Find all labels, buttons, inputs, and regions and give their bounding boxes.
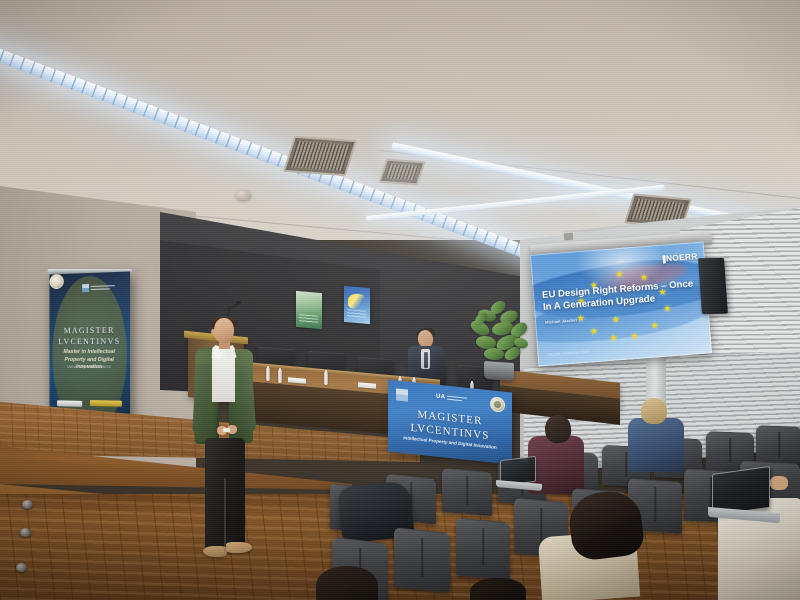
conference-room-photo: ★ ★ ★ ★ ★ ★ ★ ★ ★ ★ ★ ★ |||NOERR EU Desi…: [0, 0, 800, 600]
panelist-tie: [424, 352, 428, 368]
step-light-icon: [16, 563, 27, 572]
auditorium-seat: [442, 468, 492, 516]
presenter-shoe-right: [226, 542, 252, 553]
air-conditioning-vent: [378, 159, 425, 186]
presentation-clicker: [223, 428, 230, 432]
water-bottle: [324, 372, 328, 385]
presenter-shoe-left: [203, 546, 227, 557]
audience-member-hand: [770, 476, 788, 490]
table-banner-magister-lvcentinvs: UA MAGISTER LVCENTINVS Intellectual Prop…: [388, 379, 512, 464]
audience-member-blue-jacket: [628, 418, 684, 472]
university-seal-icon: [49, 274, 63, 289]
ua-subtext-lines: [447, 396, 467, 402]
presenter-head: [214, 318, 234, 343]
auditorium-seat: [456, 518, 510, 581]
ua-wordmark: UA: [436, 394, 445, 401]
banner-university: University of ALICANTE: [54, 365, 125, 369]
euipo-wordmark: [91, 285, 115, 290]
step-light-icon: [22, 500, 33, 509]
smoke-detector-icon: [236, 190, 251, 200]
audience-member-head: [316, 566, 378, 600]
water-bottle: [266, 368, 270, 381]
projection-screen: ★ ★ ★ ★ ★ ★ ★ ★ ★ ★ ★ ★ |||NOERR EU Desi…: [530, 241, 712, 366]
euipo-mark-icon: [82, 284, 89, 292]
banner-title: MAGISTER LVCENTINVS: [49, 324, 130, 347]
screen-mount: [564, 233, 574, 241]
audience-member-head: [470, 578, 526, 600]
presenter-leg-seam: [224, 478, 226, 550]
audience-member-head: [640, 397, 668, 425]
water-bottle: [278, 370, 282, 383]
banner-sponsor-logo: [57, 400, 82, 407]
wall-poster-blue: [344, 286, 370, 324]
sponsor-logo-icon: [396, 388, 408, 401]
wall-mounted-speaker: [698, 258, 728, 314]
presenter-ear: [211, 329, 215, 335]
ua-logo: UA: [436, 394, 467, 403]
auditorium-seat: [756, 425, 800, 467]
university-seal-icon: [490, 396, 505, 413]
potted-plant: [466, 302, 532, 368]
air-conditioning-vent: [283, 136, 357, 176]
step-light-icon: [20, 528, 31, 537]
auditorium-seat: [394, 527, 450, 593]
banner-sponsor-logo: [90, 400, 122, 407]
wall-poster-green: [296, 291, 322, 329]
standing-presenter: [186, 318, 262, 566]
screen-border: [530, 241, 712, 366]
euipo-logo: [82, 283, 115, 292]
